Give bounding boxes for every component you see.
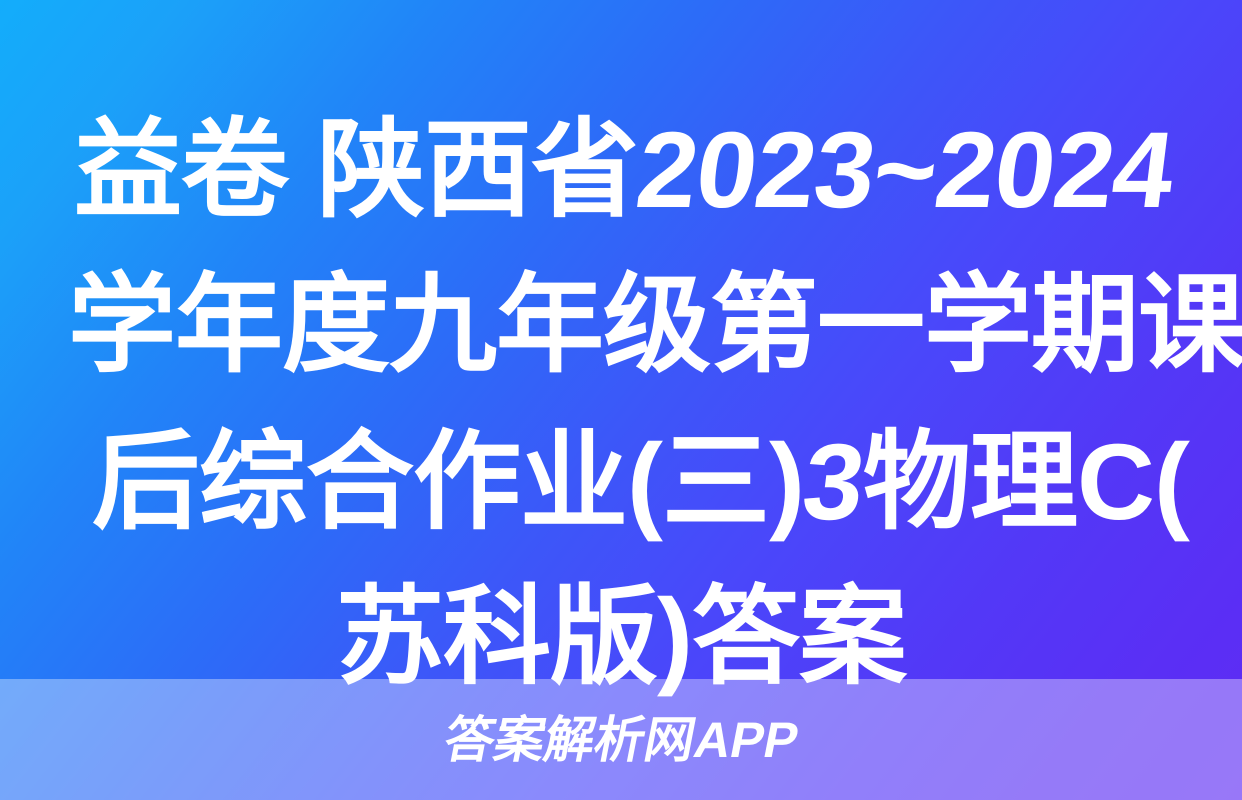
footer-brand-label: 答案解析网APP [440, 715, 803, 765]
title-line-1-cjk: 益卷 陕西省 [74, 109, 638, 230]
footer-brand-band: 答案解析网APP [0, 679, 1242, 800]
title-line-3-cjk-b: 物理C( [863, 421, 1189, 542]
title-line-2-cjk: 学年度九年级第一学期课 [68, 264, 1242, 385]
title-line-1: 益卷 陕西省2023~2024 [74, 92, 1173, 247]
title-line-2: 学年度九年级第一学期课 [68, 247, 1242, 402]
title-line-3: 后综合作业(三)3物理C( [92, 404, 1189, 559]
title-line-3-number: 3 [794, 404, 872, 559]
cover-screen: 益卷 陕西省2023~2024 学年度九年级第一学期课 后综合作业(三)3物理C… [0, 0, 1242, 800]
title-line-3-cjk-a: 后综合作业(三) [92, 421, 804, 542]
title-line-1-years: 2023~2024 [628, 92, 1182, 247]
